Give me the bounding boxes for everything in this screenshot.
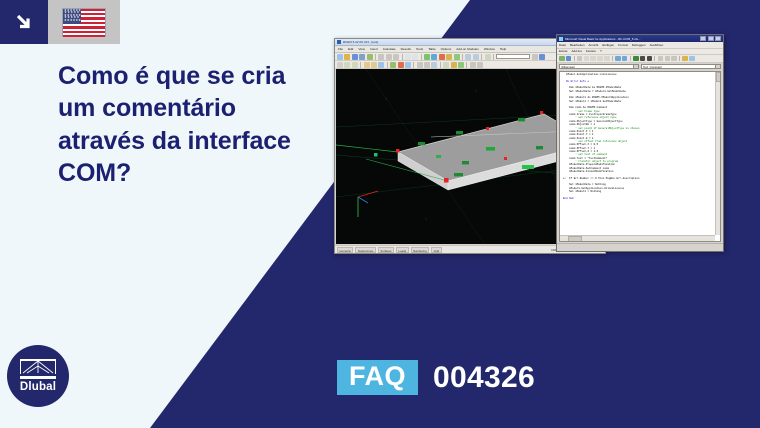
toolbar-icon-break[interactable] — [640, 56, 646, 62]
toolbar-icon-screenshot[interactable] — [477, 62, 483, 68]
menu-item-window[interactable]: Window — [484, 47, 495, 51]
flag-graphic: ★★★★★★ ★★★★★ ★★★★★★ ★★★★★ ★★★★★★ — [62, 8, 106, 37]
procedure-combo-value: Text_Comment — [643, 65, 662, 69]
toolbar-separator — [481, 54, 482, 60]
toolbar-icon-copy[interactable] — [590, 56, 596, 62]
toolbar-icon-snap[interactable] — [473, 54, 479, 60]
toolbar-icon-support[interactable] — [378, 62, 384, 68]
menu-item-view[interactable]: View — [358, 47, 365, 51]
toolbar-separator — [360, 62, 361, 68]
toolbar-icon-run[interactable] — [633, 56, 639, 62]
toolbar-icon-print[interactable] — [359, 54, 365, 60]
menu-item-add-ins[interactable]: Add-Ins — [572, 49, 582, 53]
toolbar-icon-printout[interactable] — [470, 62, 476, 68]
toolbar-icon-object-browser[interactable] — [682, 56, 688, 62]
toolbar-separator — [413, 62, 414, 68]
status-cell-grid[interactable]: Grid — [431, 247, 441, 253]
toolbar-icon-project-explorer[interactable] — [665, 56, 671, 62]
menu-item-edit[interactable]: Edit — [348, 47, 353, 51]
menu-item-table[interactable]: Table — [428, 47, 435, 51]
toolbar-icon-nodal-load[interactable] — [398, 62, 404, 68]
toolbar-separator — [654, 56, 655, 62]
menu-item-einfuegen[interactable]: Einfügen — [602, 43, 614, 47]
scrollbar-thumb[interactable] — [568, 236, 582, 242]
vba-toolbar[interactable] — [557, 55, 723, 63]
toolbar-icon-grid[interactable] — [465, 54, 471, 60]
faq-tag-label: FAQ — [337, 360, 418, 395]
menu-item-tools[interactable]: Tools — [416, 47, 423, 51]
rfem-title: RFEM 5.22.00 x64 - [test] — [343, 40, 578, 44]
menu-item-ausfuehren[interactable]: Ausführen — [650, 43, 664, 47]
toolbar-icon-surface[interactable] — [364, 62, 370, 68]
toolbar-icon-open[interactable] — [344, 54, 350, 60]
toolbar-icon-design-mode[interactable] — [658, 56, 664, 62]
page-title: Como é que se cria um comentário através… — [58, 60, 358, 189]
vba-code-pane[interactable]: iModel.GetApplication.LockLicense On Err… — [559, 71, 721, 242]
object-combo[interactable]: (Allgemein) — [559, 64, 639, 70]
toolbar-separator — [462, 54, 463, 60]
toolbar-icon-rotate[interactable] — [446, 54, 452, 60]
menu-item-options[interactable]: Options — [441, 47, 452, 51]
status-cell-numbering[interactable]: Numbering — [411, 247, 430, 253]
toolbar-icon-new[interactable] — [337, 54, 343, 60]
toolbar-icon-deformation[interactable] — [451, 62, 457, 68]
toolbar-icon-properties[interactable] — [671, 56, 677, 62]
toolbar-separator — [440, 62, 441, 68]
toolbar-icon-results[interactable] — [458, 62, 464, 68]
toolbar-icon-material[interactable] — [417, 62, 423, 68]
code-vertical-scrollbar[interactable] — [715, 72, 720, 235]
toolbar-icon-zoom-out[interactable] — [431, 54, 437, 60]
toolbar-icon-insert-module[interactable] — [566, 56, 572, 62]
vba-titlebar: Microsoft Visual Basic for Applications … — [557, 35, 723, 42]
menu-item-help[interactable]: Help — [500, 47, 506, 51]
vba-code-text[interactable]: iModel.GetApplication.LockLicense On Err… — [561, 72, 715, 241]
chevron-down-icon[interactable] — [633, 65, 638, 70]
vba-app-icon — [559, 37, 563, 41]
toolbar-icon-line-load[interactable] — [405, 62, 411, 68]
status-cell-nodes-lines[interactable]: Nodes/Lines — [355, 247, 376, 253]
us-flag-icon: ★★★★★★ ★★★★★ ★★★★★★ ★★★★★ ★★★★★★ — [48, 0, 120, 44]
arrow-down-right-icon — [0, 0, 48, 44]
menu-item-debuggen[interactable]: Debuggen — [632, 43, 646, 47]
vba-window-controls[interactable] — [700, 36, 721, 41]
toolbar-separator — [402, 54, 403, 60]
toolbar-icon-paste[interactable] — [393, 54, 399, 60]
language-bar: ★★★★★★ ★★★★★ ★★★★★★ ★★★★★ ★★★★★★ — [0, 0, 120, 44]
menu-item-fenster[interactable]: Fenster — [586, 49, 596, 53]
toolbar-separator — [387, 62, 388, 68]
toolbar-separator — [574, 56, 575, 62]
toolbar-icon-paste[interactable] — [597, 56, 603, 62]
headline-line-4: COM? — [58, 157, 358, 189]
status-cell-surfaces[interactable]: Surfaces — [378, 247, 394, 253]
toolbar-icon-find[interactable] — [604, 56, 610, 62]
menu-item-addon-modules[interactable]: Add-on Modules — [456, 47, 479, 51]
dlubal-logo: Dlubal — [7, 345, 69, 407]
headline-line-1: Como é que se cria — [58, 60, 358, 92]
status-cell-isometric[interactable]: Isometric — [337, 247, 353, 253]
flag-canton: ★★★★★★ ★★★★★ ★★★★★★ ★★★★★ ★★★★★★ — [63, 9, 81, 25]
toolbar-separator — [679, 56, 680, 62]
toolbar-icon-reset[interactable] — [647, 56, 653, 62]
procedure-combo[interactable]: Text_Comment — [641, 64, 721, 70]
toolbar-icon-cut[interactable] — [584, 56, 590, 62]
menu-item-extras[interactable]: Extras — [559, 49, 568, 53]
toolbar-separator — [466, 62, 467, 68]
toolbar-icon-thickness[interactable] — [431, 62, 437, 68]
slide-canvas: ★★★★★★ ★★★★★ ★★★★★★ ★★★★★ ★★★★★★ Como é … — [0, 0, 760, 428]
scrollbar-thumb[interactable] — [716, 72, 721, 82]
toolbar-icon-redo[interactable] — [412, 54, 418, 60]
toolbar-icon-view-excel[interactable] — [559, 56, 565, 62]
rfem-app-icon — [337, 40, 341, 44]
toolbar-icon-cut[interactable] — [378, 54, 384, 60]
toolbar-icon-undo[interactable] — [615, 56, 621, 62]
toolbar-separator — [630, 56, 631, 62]
status-cell-loads[interactable]: Loads — [396, 247, 409, 253]
toolbar-icon-save[interactable] — [577, 56, 583, 62]
vba-combo-bar[interactable]: (Allgemein) Text_Comment — [557, 63, 723, 70]
toolbar-icon-save[interactable] — [352, 54, 358, 60]
vba-statusbar — [557, 243, 723, 251]
toolbar-separator — [493, 54, 494, 60]
chevron-down-icon[interactable] — [715, 65, 720, 70]
maximize-button[interactable] — [708, 36, 714, 41]
headline-line-3: através da interface — [58, 125, 358, 157]
menu-item-file[interactable]: File — [338, 47, 343, 51]
vba-title: Microsoft Visual Basic for Applications … — [565, 37, 700, 41]
vba-editor-window[interactable]: Microsoft Visual Basic for Applications … — [556, 34, 724, 252]
menu-item-results[interactable]: Results — [401, 47, 411, 51]
toolbar-icon-load[interactable] — [390, 62, 396, 68]
toolbar-icon-zoom-all[interactable] — [439, 54, 445, 60]
toolbar-icon-settings[interactable] — [539, 54, 545, 60]
toolbar-icon-toolbox[interactable] — [689, 56, 695, 62]
screenshot-composite: RFEM 5.22.00 x64 - [test] File Edit View… — [334, 34, 724, 254]
faq-number: 004326 — [433, 363, 535, 393]
minimize-button[interactable] — [700, 36, 706, 41]
toolbar-separator — [375, 54, 376, 60]
object-combo-value: (Allgemein) — [561, 65, 575, 69]
toolbar-icon-solid[interactable] — [371, 62, 377, 68]
menu-item-help[interactable]: ? — [600, 49, 602, 53]
menu-item-calculate[interactable]: Calculate — [383, 47, 396, 51]
code-horizontal-scrollbar[interactable] — [560, 235, 715, 241]
toolbar-icon-display[interactable] — [532, 54, 538, 60]
code-line: End Sub — [563, 197, 715, 200]
toolbar-icon-zoom-in[interactable] — [424, 54, 430, 60]
close-button[interactable] — [715, 36, 721, 41]
menu-item-format[interactable]: Format — [618, 43, 628, 47]
logo-wordmark: Dlubal — [20, 381, 56, 393]
menu-item-bearbeiten[interactable]: Bearbeiten — [570, 43, 585, 47]
toolbar-loadcase-combo[interactable] — [496, 54, 530, 60]
toolbar-icon-copy[interactable] — [386, 54, 392, 60]
toolbar-icon-section[interactable] — [424, 62, 430, 68]
menu-item-insert[interactable]: Insert — [370, 47, 378, 51]
toolbar-separator — [612, 56, 613, 62]
toolbar-separator — [421, 54, 422, 60]
dlubal-bridge-icon — [20, 359, 56, 379]
toolbar-icon-render[interactable] — [454, 54, 460, 60]
menu-item-ansicht[interactable]: Ansicht — [589, 43, 599, 47]
toolbar-icon-preview[interactable] — [367, 54, 373, 60]
menu-item-datei[interactable]: Datei — [559, 43, 566, 47]
faq-badge: FAQ 004326 — [337, 360, 535, 395]
toolbar-icon-undo[interactable] — [405, 54, 411, 60]
toolbar-icon-calculate[interactable] — [485, 54, 491, 60]
headline-line-2: um comentário — [58, 92, 358, 124]
toolbar-icon-redo[interactable] — [622, 56, 628, 62]
toolbar-icon-mesh[interactable] — [443, 62, 449, 68]
